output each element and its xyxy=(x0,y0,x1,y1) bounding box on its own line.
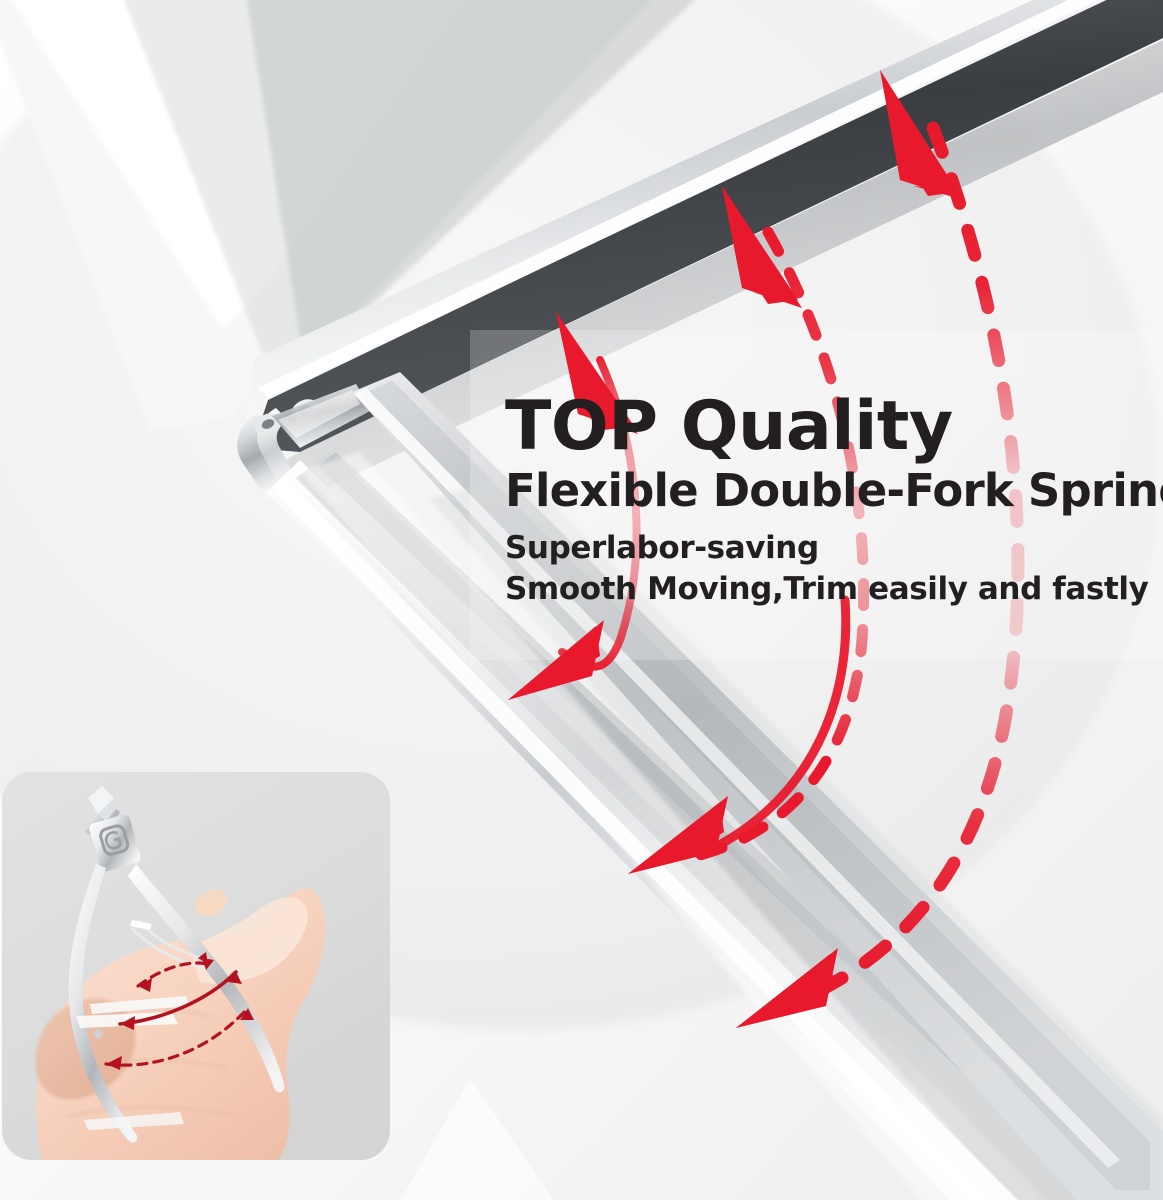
feature-line-1: Superlabor-saving xyxy=(505,528,1125,569)
feature-line-2: Smooth Moving,Trim easily and fastly xyxy=(505,569,1125,610)
inset-photo-card[interactable] xyxy=(2,772,390,1160)
arrow-down-outer-icon xyxy=(736,948,838,1028)
page-subtitle: Flexible Double-Fork Spring xyxy=(505,467,1125,516)
page-title: TOP Quality xyxy=(505,392,1125,461)
arrow-down-middle-icon xyxy=(628,796,728,874)
arrow-up-middle-icon xyxy=(722,186,802,308)
product-banner: TOP Quality Flexible Double-Fork Spring … xyxy=(0,0,1163,1200)
arrow-up-outer-icon xyxy=(880,70,962,200)
arrow-down-inner-icon xyxy=(508,620,604,700)
inset-illustration xyxy=(2,772,390,1160)
headline-block: TOP Quality Flexible Double-Fork Spring … xyxy=(505,392,1125,610)
